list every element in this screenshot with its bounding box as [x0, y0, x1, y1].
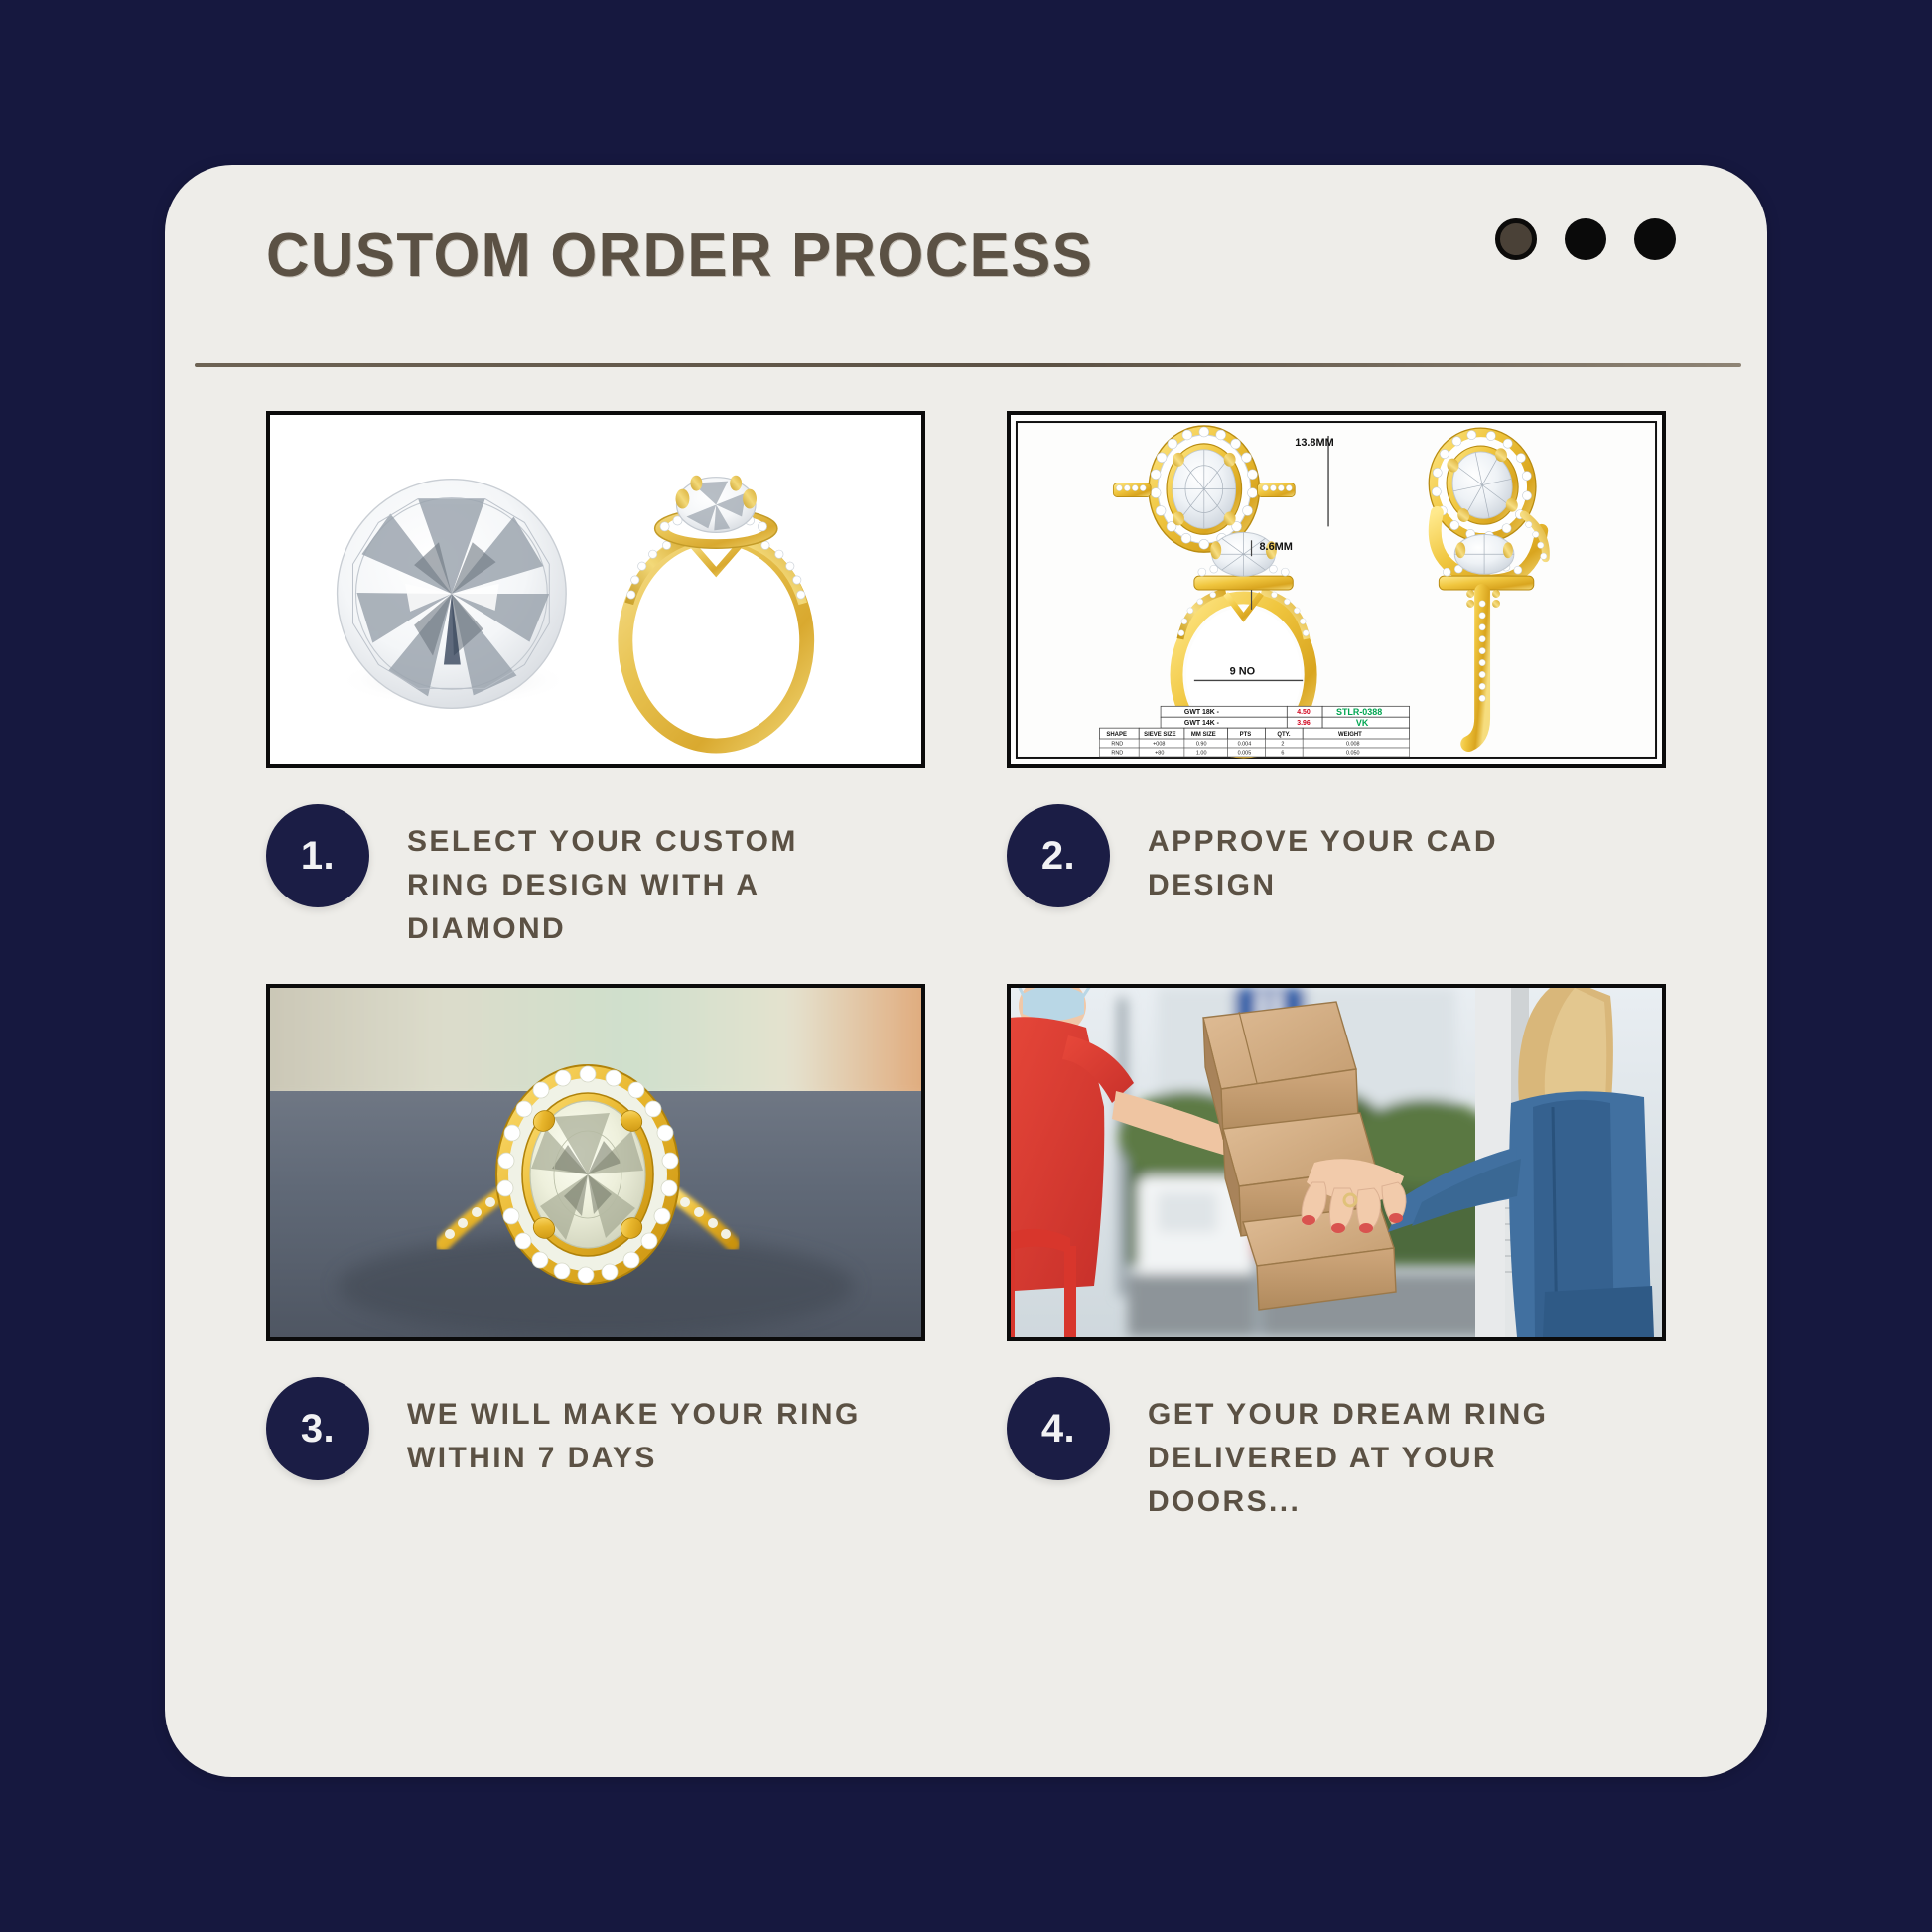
svg-text:4.50: 4.50: [1297, 709, 1311, 716]
step-2-caption: 2. APPROVE YOUR CAD DESIGN: [1007, 804, 1666, 907]
svg-text:0.008: 0.008: [1346, 742, 1360, 748]
card-header: CUSTOM ORDER PROCESS: [165, 165, 1767, 373]
step-3-badge: 3.: [266, 1377, 369, 1480]
step-4: 4. GET YOUR DREAM RING DELIVERED AT YOUR…: [1007, 984, 1666, 1523]
step-4-image[interactable]: [1007, 984, 1666, 1341]
finished-ring-photo-icon: [270, 988, 921, 1337]
step-3: 3. WE WILL MAKE YOUR RING WITHIN 7 DAYS: [266, 984, 925, 1523]
svg-text:0.004: 0.004: [1238, 742, 1252, 748]
package-delivery-photo-icon: [1011, 988, 1662, 1337]
svg-text:SIEVE SIZE: SIEVE SIZE: [1144, 732, 1175, 738]
process-card: CUSTOM ORDER PROCESS: [165, 165, 1767, 1777]
svg-text:RND: RND: [1111, 742, 1123, 748]
svg-text:2: 2: [1281, 742, 1284, 748]
svg-text:MM SIZE: MM SIZE: [1191, 732, 1216, 738]
step-2: 13.8MM: [1007, 411, 1666, 950]
window-dot-brown-icon[interactable]: [1495, 218, 1537, 260]
svg-text:1.00: 1.00: [1196, 750, 1207, 756]
svg-text:GWT 14K -: GWT 14K -: [1184, 720, 1220, 727]
poster-canvas: CUSTOM ORDER PROCESS: [0, 0, 1932, 1932]
svg-text:RND: RND: [1111, 750, 1123, 756]
step-1-image[interactable]: [266, 411, 925, 768]
cad-dim-86: 8.6MM: [1259, 541, 1292, 553]
svg-text:WEIGHT: WEIGHT: [1338, 732, 1362, 738]
cad-dim-138: 13.8MM: [1295, 437, 1333, 449]
step-2-badge: 2.: [1007, 804, 1110, 907]
window-dot-black-2-icon[interactable]: [1634, 218, 1676, 260]
svg-text:+80: +80: [1155, 750, 1164, 756]
svg-text:+008: +008: [1153, 742, 1165, 748]
step-4-label: GET YOUR DREAM RING DELIVERED AT YOUR DO…: [1148, 1377, 1604, 1523]
step-2-image[interactable]: 13.8MM: [1007, 411, 1666, 768]
page-title: CUSTOM ORDER PROCESS: [266, 220, 1093, 291]
step-3-caption: 3. WE WILL MAKE YOUR RING WITHIN 7 DAYS: [266, 1377, 925, 1480]
window-dot-black-1-icon[interactable]: [1565, 218, 1606, 260]
svg-text:SHAPE: SHAPE: [1106, 732, 1127, 738]
header-divider: [195, 363, 1741, 367]
step-1-caption: 1. SELECT YOUR CUSTOM RING DESIGN WITH A…: [266, 804, 925, 950]
diamond-and-ring-render-icon: [270, 415, 921, 764]
step-3-label: WE WILL MAKE YOUR RING WITHIN 7 DAYS: [407, 1377, 864, 1480]
cad-design-sheet-icon: 13.8MM: [1011, 415, 1662, 764]
cad-ring-size: 9 NO: [1230, 665, 1256, 677]
svg-text:0.050: 0.050: [1346, 750, 1360, 756]
svg-text:0.005: 0.005: [1238, 750, 1252, 756]
step-4-caption: 4. GET YOUR DREAM RING DELIVERED AT YOUR…: [1007, 1377, 1666, 1523]
step-3-image[interactable]: [266, 984, 925, 1341]
svg-text:3.96: 3.96: [1297, 720, 1311, 727]
svg-text:0.90: 0.90: [1196, 742, 1207, 748]
svg-text:6: 6: [1281, 750, 1284, 756]
svg-text:STLR-0388: STLR-0388: [1336, 707, 1382, 717]
step-1-badge: 1.: [266, 804, 369, 907]
steps-grid: 1. SELECT YOUR CUSTOM RING DESIGN WITH A…: [165, 411, 1767, 1524]
svg-text:PTS: PTS: [1240, 732, 1252, 738]
svg-text:QTY.: QTY.: [1277, 732, 1291, 738]
step-1: 1. SELECT YOUR CUSTOM RING DESIGN WITH A…: [266, 411, 925, 950]
svg-text:VK: VK: [1356, 718, 1369, 728]
svg-text:GWT 18K -: GWT 18K -: [1184, 709, 1220, 716]
window-controls[interactable]: [1495, 218, 1676, 260]
step-4-badge: 4.: [1007, 1377, 1110, 1480]
step-1-label: SELECT YOUR CUSTOM RING DESIGN WITH A DI…: [407, 804, 864, 950]
step-2-label: APPROVE YOUR CAD DESIGN: [1148, 804, 1604, 907]
